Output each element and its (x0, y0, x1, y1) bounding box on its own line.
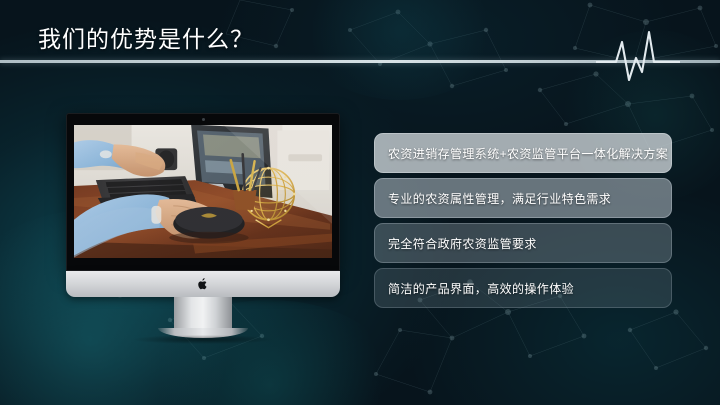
feature-list: 农资进销存管理系统+农资监管平台一体化解决方案 专业的农资属性管理，满足行业特色… (374, 133, 672, 313)
slide-canvas: 我们的优势是什么？ (0, 0, 720, 405)
imac-shadow (133, 335, 273, 344)
feature-label: 简洁的产品界面，高效的操作体验 (388, 280, 574, 297)
heartbeat-pulse-icon (596, 28, 680, 90)
desk-photo (74, 125, 332, 258)
imac-display (66, 113, 340, 297)
apple-logo-icon (198, 278, 209, 291)
feature-item[interactable]: 专业的农资属性管理，满足行业特色需求 (374, 178, 672, 218)
imac-screen-bezel (66, 113, 340, 271)
imac-chin (66, 271, 340, 297)
feature-item[interactable]: 农资进销存管理系统+农资监管平台一体化解决方案 (374, 133, 672, 173)
feature-item[interactable]: 简洁的产品界面，高效的操作体验 (374, 268, 672, 308)
feature-label: 专业的农资属性管理，满足行业特色需求 (388, 190, 611, 207)
page-title: 我们的优势是什么？ (38, 24, 254, 54)
feature-label: 农资进销存管理系统+农资监管平台一体化解决方案 (388, 145, 668, 162)
webcam-icon (202, 118, 205, 121)
feature-label: 完全符合政府农资监管要求 (388, 235, 537, 252)
feature-item[interactable]: 完全符合政府农资监管要求 (374, 223, 672, 263)
